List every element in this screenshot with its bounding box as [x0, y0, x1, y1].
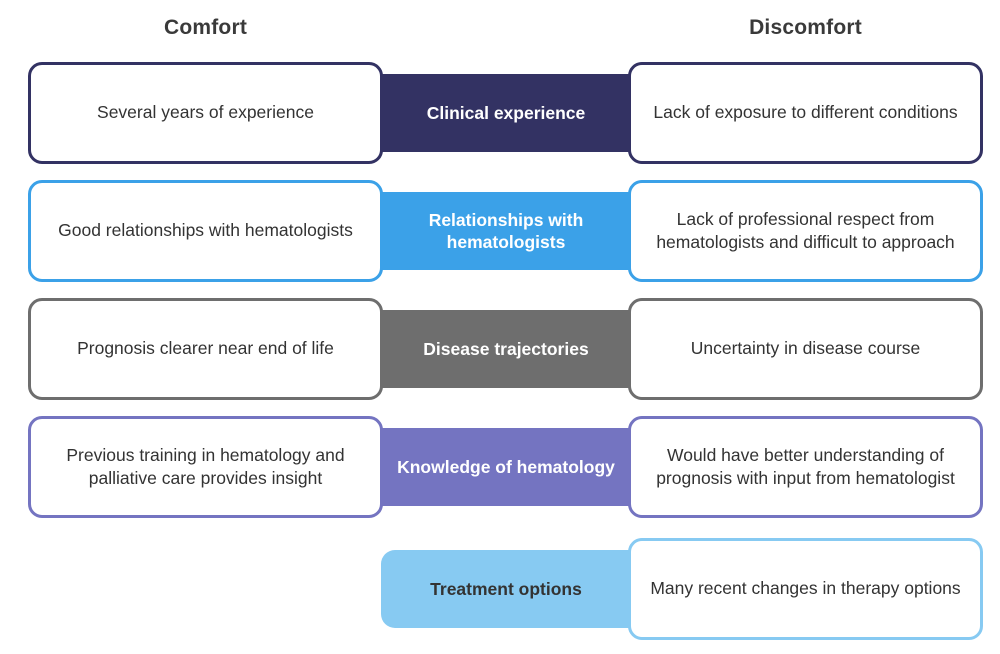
diagram-row: Several years of experience Clinical exp… — [0, 62, 1000, 164]
theme-band-label: Knowledge of hematology — [389, 456, 623, 478]
comfort-box-text: Prognosis clearer near end of life — [63, 337, 348, 360]
discomfort-box: Many recent changes in therapy options — [628, 538, 983, 640]
column-header-comfort: Comfort — [28, 16, 383, 40]
theme-band-label: Clinical experience — [419, 102, 594, 124]
comfort-box: Several years of experience — [28, 62, 383, 164]
diagram-row: Good relationships with hematologists Re… — [0, 180, 1000, 282]
comfort-box-text: Good relationships with hematologists — [44, 219, 367, 242]
discomfort-box-text: Lack of exposure to different conditions — [639, 101, 971, 124]
discomfort-box: Would have better understanding of progn… — [628, 416, 983, 518]
discomfort-box-text: Uncertainty in disease course — [677, 337, 935, 360]
diagram-row: Treatment options Many recent changes in… — [0, 538, 1000, 640]
theme-band: Disease trajectories — [381, 310, 631, 388]
diagram-row: Previous training in hematology and pall… — [0, 416, 1000, 518]
comfort-box-text: Several years of experience — [83, 101, 328, 124]
comfort-box: Good relationships with hematologists — [28, 180, 383, 282]
discomfort-box: Lack of professional respect from hemato… — [628, 180, 983, 282]
discomfort-box-text: Many recent changes in therapy options — [636, 577, 974, 600]
theme-band: Clinical experience — [381, 74, 631, 152]
theme-band-label: Treatment options — [422, 578, 590, 600]
theme-band: Treatment options — [381, 550, 631, 628]
theme-band: Relationships with hematologists — [381, 192, 631, 270]
discomfort-box: Uncertainty in disease course — [628, 298, 983, 400]
comfort-box: Previous training in hematology and pall… — [28, 416, 383, 518]
diagram-row: Prognosis clearer near end of life Disea… — [0, 298, 1000, 400]
discomfort-box-text: Would have better understanding of progn… — [631, 444, 980, 490]
theme-band-label: Disease trajectories — [415, 338, 596, 360]
discomfort-box-text: Lack of professional respect from hemato… — [631, 208, 980, 254]
column-header-discomfort: Discomfort — [628, 16, 983, 40]
discomfort-box: Lack of exposure to different conditions — [628, 62, 983, 164]
comfort-box-text: Previous training in hematology and pall… — [31, 444, 380, 490]
comfort-box: Prognosis clearer near end of life — [28, 298, 383, 400]
theme-band: Knowledge of hematology — [381, 428, 631, 506]
theme-band-label: Relationships with hematologists — [381, 209, 631, 254]
comfort-discomfort-diagram: Comfort Discomfort Several years of expe… — [0, 0, 1000, 654]
